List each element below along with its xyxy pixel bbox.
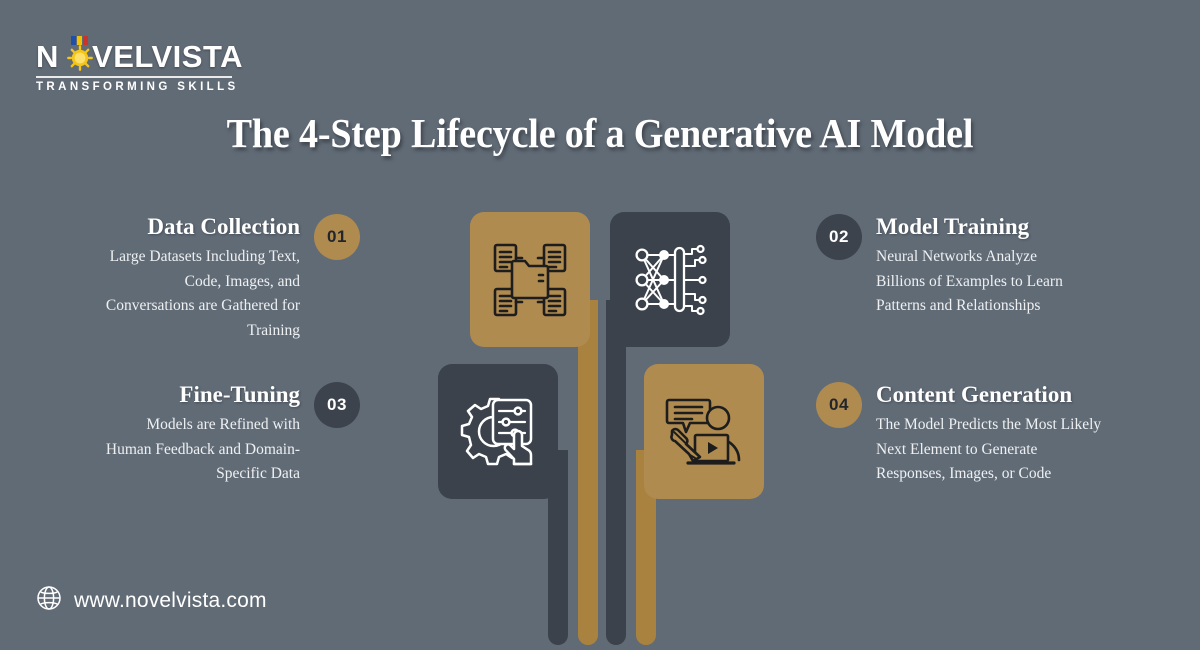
documents-folder-icon [491, 241, 569, 319]
step-04-description: The Model Predicts the Most Likely Next … [876, 413, 1104, 487]
step-02-title: Model Training [876, 214, 1072, 240]
step-01-number-badge: 01 [314, 214, 360, 260]
globe-icon [36, 585, 62, 616]
icon-card-02 [610, 212, 730, 347]
content-creation-icon [664, 394, 744, 470]
infographic-canvas: N VELVIS [0, 0, 1200, 650]
step-02-text: Model Training Neural Networks Analyze B… [876, 214, 1072, 319]
step-block-03: Fine-Tuning Models are Refined with Huma… [104, 382, 360, 487]
neural-network-chip-icon [632, 244, 708, 316]
step-block-01: Data Collection Large Datasets Including… [104, 214, 360, 343]
flag-accents [71, 36, 90, 45]
brand-tagline: TRANSFORMING SKILLS [36, 81, 256, 93]
gear-sliders-hand-icon [458, 393, 538, 471]
brand-name-after: VELVISTA [92, 39, 243, 74]
website-url[interactable]: www.novelvista.com [74, 589, 267, 613]
step-04-title: Content Generation [876, 382, 1104, 408]
icon-card-01 [470, 212, 590, 347]
icon-card-03 [438, 364, 558, 499]
step-03-title: Fine-Tuning [104, 382, 300, 408]
brand-wordmark: N VELVIS [36, 40, 256, 74]
sun-glyph [67, 45, 93, 71]
page-title: The 4-Step Lifecycle of a Generative AI … [42, 109, 1158, 157]
step-02-description: Neural Networks Analyze Billions of Exam… [876, 245, 1072, 319]
step-block-04: 04 Content Generation The Model Predicts… [816, 382, 1104, 487]
step-01-description: Large Datasets Including Text, Code, Ima… [104, 245, 300, 343]
sun-icon [67, 45, 93, 71]
footer: www.novelvista.com [36, 585, 267, 616]
step-01-title: Data Collection [104, 214, 300, 240]
step-block-02: 02 Model Training Neural Networks Analyz… [816, 214, 1072, 319]
logo-divider [36, 76, 232, 78]
step-04-number-badge: 04 [816, 382, 862, 428]
step-01-text: Data Collection Large Datasets Including… [104, 214, 300, 343]
step-02-number-badge: 02 [816, 214, 862, 260]
connector-tail-01 [578, 300, 598, 645]
step-04-text: Content Generation The Model Predicts th… [876, 382, 1104, 487]
step-03-description: Models are Refined with Human Feedback a… [104, 413, 300, 487]
brand-name-before: N [36, 39, 59, 74]
brand-logo: N VELVIS [36, 40, 256, 92]
icon-card-04 [644, 364, 764, 499]
step-03-number-badge: 03 [314, 382, 360, 428]
step-03-text: Fine-Tuning Models are Refined with Huma… [104, 382, 300, 487]
connector-tail-02 [606, 300, 626, 645]
